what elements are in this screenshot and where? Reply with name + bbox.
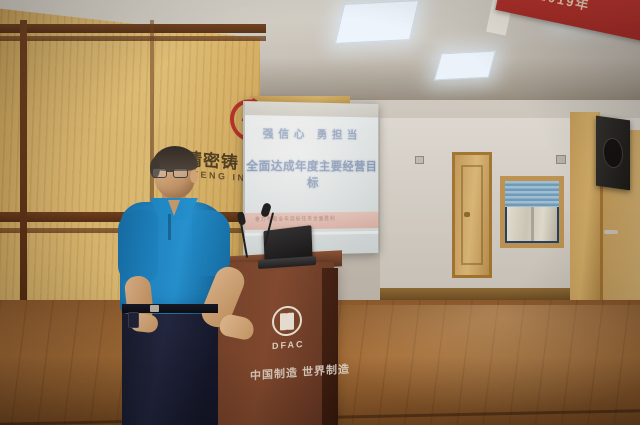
banner-text: 公司2019年 xyxy=(508,0,592,14)
ceiling-light-panel xyxy=(335,0,419,44)
slide-subtitle: 全面达成年度主要经营目标 xyxy=(245,157,378,191)
belt-buckle-icon xyxy=(150,305,159,312)
slide-title: 强信心 勇担当 xyxy=(245,125,378,142)
wall-trim xyxy=(20,20,27,340)
screen-top-bar xyxy=(245,101,378,117)
glasses-lens-right xyxy=(173,168,188,178)
floor-reflection xyxy=(300,305,640,425)
wall-sensor-icon xyxy=(556,155,566,164)
shirt-placket xyxy=(168,214,171,240)
ceiling-light-panel xyxy=(434,51,496,81)
wall-trim xyxy=(0,24,266,33)
wall-sensor-icon xyxy=(415,156,424,164)
window-curtain xyxy=(507,207,557,241)
glasses-lens-left xyxy=(152,168,167,178)
podium-side xyxy=(322,268,338,425)
speaker-person xyxy=(108,148,236,425)
door-knob-icon[interactable] xyxy=(464,212,470,217)
window-blind xyxy=(505,181,559,207)
glasses-icon xyxy=(152,168,192,179)
wooden-door[interactable] xyxy=(452,152,492,278)
wall-trim xyxy=(0,36,266,41)
loudspeaker-icon xyxy=(596,116,630,191)
control-room-window xyxy=(500,176,564,248)
door-handle-icon[interactable] xyxy=(604,230,618,234)
belt-pouch xyxy=(128,312,139,328)
conference-hall-photo: 公司2019年 精密铸 GFENG INVESTM 强信心 勇担当 全面达成年度… xyxy=(0,0,640,425)
shirt-sleeve-left xyxy=(118,210,158,282)
